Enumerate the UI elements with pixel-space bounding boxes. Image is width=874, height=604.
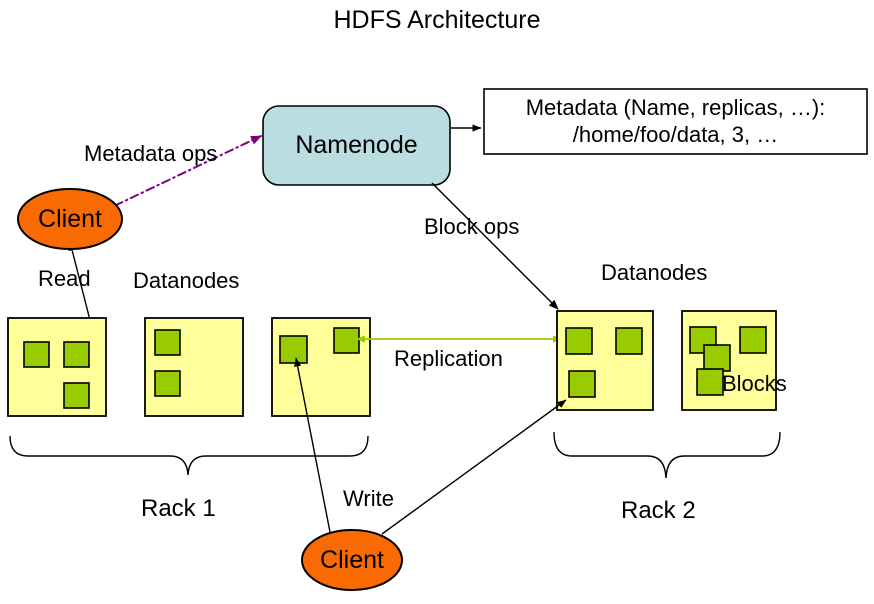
namenode-label: Namenode — [263, 106, 450, 185]
block[interactable] — [280, 336, 307, 363]
label-rack1: Rack 1 — [141, 497, 216, 521]
label-read: Read — [38, 268, 91, 290]
metadata-line-1: Metadata (Name, replicas, …): — [526, 95, 826, 122]
metadata-box-text: Metadata (Name, replicas, …): /home/foo/… — [484, 89, 867, 154]
block[interactable] — [697, 369, 723, 395]
label-replication: Replication — [394, 348, 503, 370]
block[interactable] — [569, 371, 595, 397]
metadata-line-2: /home/foo/data, 3, … — [573, 122, 778, 149]
diagram-canvas: HDFS Architecture Namenode Metadata (Nam… — [0, 0, 874, 604]
block[interactable] — [155, 330, 180, 355]
label-datanodes-left: Datanodes — [133, 270, 239, 292]
edge-block-ops — [432, 183, 558, 309]
rack2-brace — [554, 432, 780, 478]
rack1-datanode-1[interactable] — [8, 318, 106, 416]
block[interactable] — [64, 383, 89, 408]
rack1-brace — [10, 436, 368, 475]
block[interactable] — [24, 342, 49, 367]
block[interactable] — [566, 328, 592, 354]
block[interactable] — [155, 371, 180, 396]
edge-write-rack2 — [382, 400, 566, 534]
block[interactable] — [616, 328, 642, 354]
label-datanodes-right: Datanodes — [601, 262, 707, 284]
block[interactable] — [64, 342, 89, 367]
client-top-label: Client — [18, 189, 122, 249]
label-blocks: Blocks — [722, 373, 787, 395]
label-metadata-ops: Metadata ops — [84, 143, 217, 165]
block[interactable] — [334, 328, 359, 353]
page-title: HDFS Architecture — [0, 8, 874, 33]
block[interactable] — [740, 327, 766, 353]
label-write: Write — [343, 488, 394, 510]
label-rack2: Rack 2 — [621, 499, 696, 523]
block[interactable] — [704, 345, 730, 371]
client-bottom-label: Client — [302, 530, 402, 590]
label-block-ops: Block ops — [424, 216, 519, 238]
